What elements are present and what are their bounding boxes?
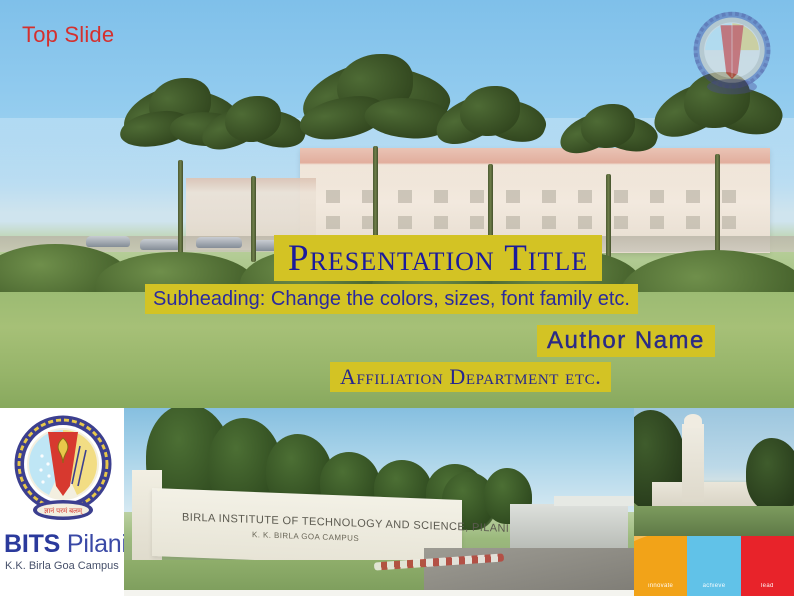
palm-tree (652, 92, 782, 262)
campus-gate-photo: BIRLA INSTITUTE OF TECHNOLOGY AND SCIENC… (124, 408, 634, 590)
gate-booth (510, 504, 628, 552)
banner-label-lead: lead (761, 583, 774, 589)
tower-lawn (634, 506, 794, 536)
svg-text:ज्ञानं परमं बलम्: ज्ञानं परमं बलम् (44, 507, 83, 515)
presentation-title: Presentation Title (274, 235, 602, 281)
banner-label-achieve: achieve (703, 583, 726, 589)
gate-canopy (554, 496, 634, 506)
presentation-title-slide: Top Slide Presentation Title Subheading:… (0, 0, 794, 596)
top-slide-label: Top Slide (22, 22, 114, 48)
banner-segment-innovate: innovate (634, 536, 687, 596)
bits-pilani-wordmark: BITS Pilani (4, 530, 124, 559)
bits-color-banner: innovate achieve lead (634, 536, 794, 596)
banner-segment-lead: lead (741, 536, 794, 596)
campus-tagline: K.K. Birla Goa Campus (5, 560, 119, 572)
gate-driveway (424, 548, 634, 590)
clock-tower (682, 424, 704, 502)
bottom-image-strip: ज्ञानं परमं बलम् BITS Pilani K.K. Birla … (0, 408, 794, 596)
wordmark-bits: BITS (4, 530, 60, 558)
clock-tower-dome (684, 414, 702, 428)
pilani-clock-tower-photo (634, 408, 794, 536)
bits-pilani-crest-icon: ज्ञानं परमं बलम् (10, 412, 116, 528)
strip-divider (124, 590, 634, 596)
author-name: Author Name (537, 325, 715, 357)
bits-pilani-logo-panel: ज्ञानं परमं बलम् BITS Pilani K.K. Birla … (0, 408, 124, 596)
bits-pilani-crest-watermark-icon (684, 6, 780, 102)
presentation-subheading: Subheading: Change the colors, sizes, fo… (145, 284, 638, 314)
affiliation-department: Affiliation Department etc. (330, 362, 611, 392)
banner-label-innovate: innovate (648, 583, 673, 589)
banner-segment-achieve: achieve (687, 536, 740, 596)
wordmark-pilani: Pilani (60, 530, 124, 558)
